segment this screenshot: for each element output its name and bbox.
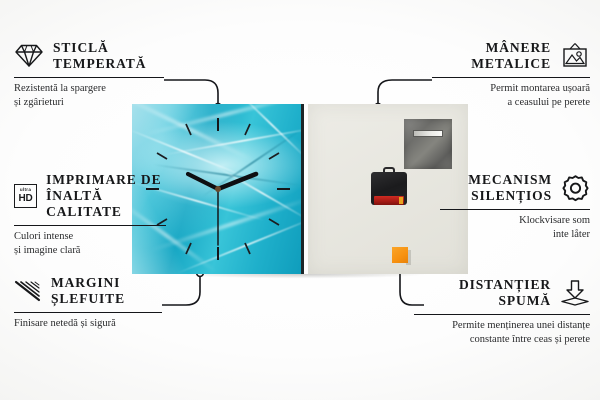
callout-title: MARGINI ȘLEFUITE <box>51 275 125 307</box>
mechanism-battery <box>374 196 404 205</box>
callout-high-quality-print: ultra HD IMPRIMARE DE ÎNALTĂ CALITATE Cu… <box>14 172 166 258</box>
callout-tempered-glass: STICLĂ TEMPERATĂ Rezistentă la spargere … <box>14 40 164 110</box>
foam-spacer-icon <box>560 279 590 307</box>
callout-desc: Rezistentă la spargere și zgârieturi <box>14 82 164 110</box>
product-image <box>132 104 468 274</box>
diamond-icon <box>14 43 44 68</box>
callout-silent-mechanism: MECANISM SILENȚIOS Klockvisare som inte … <box>440 172 590 242</box>
callout-foam-spacer: DISTANȚIER SPUMĂ Permite menținerea unei… <box>414 277 590 347</box>
callout-polished-edges: MARGINI ȘLEFUITE Finisare netedă și sigu… <box>14 275 162 331</box>
callout-rule <box>14 225 166 227</box>
connector-handles <box>378 80 432 104</box>
callout-title: DISTANȚIER SPUMĂ <box>459 277 551 309</box>
callout-title: MECANISM SILENȚIOS <box>468 172 552 204</box>
infographic-stage: STICLĂ TEMPERATĂ Rezistentă la spargere … <box>0 0 600 400</box>
metal-hanger-plate <box>404 119 452 169</box>
polished-edges-icon <box>14 279 42 303</box>
callout-rule <box>432 77 590 79</box>
callout-desc: Finisare netedă și sigură <box>14 317 162 331</box>
connector-glass <box>164 80 218 104</box>
callout-title: IMPRIMARE DE ÎNALTĂ CALITATE <box>46 172 166 220</box>
ultra-hd-icon: ultra HD <box>14 184 37 208</box>
battery-terminal <box>399 197 403 204</box>
callout-metal-handles: MÂNERE METALICE Permit montarea ușoară a… <box>432 40 590 110</box>
ultra-hd-top-label: ultra <box>20 188 31 193</box>
callout-desc: Culori intense și imagine clară <box>14 230 166 258</box>
callout-rule <box>14 312 162 314</box>
gear-icon <box>561 174 590 202</box>
mechanism-body <box>371 172 407 205</box>
callout-rule <box>414 314 590 316</box>
hanger-slot <box>413 130 443 137</box>
hanging-frame-icon <box>560 42 590 69</box>
callout-rule <box>440 209 590 211</box>
foam-spacer <box>392 247 408 263</box>
callout-rule <box>14 77 164 79</box>
callout-desc: Klockvisare som inte låter <box>440 214 590 242</box>
callout-title: MÂNERE METALICE <box>471 40 551 72</box>
clock-mechanism <box>371 167 407 205</box>
ultra-hd-main-label: HD <box>19 194 33 204</box>
callout-desc: Permite menținerea unei distanțe constan… <box>414 319 590 347</box>
callout-desc: Permit montarea ușoară a ceasului pe per… <box>432 82 590 110</box>
callout-title: STICLĂ TEMPERATĂ <box>53 40 146 72</box>
